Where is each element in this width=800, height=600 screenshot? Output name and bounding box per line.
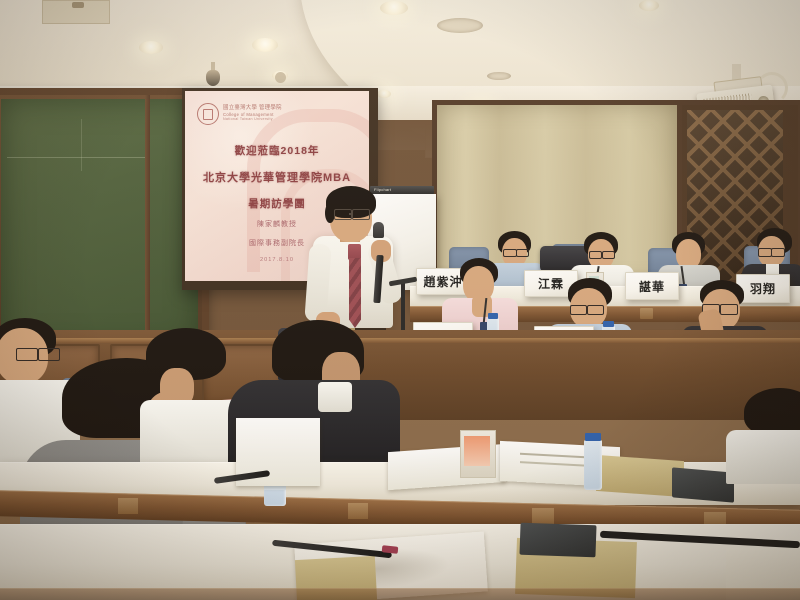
glasses-icon: [587, 305, 604, 315]
downlight: [139, 41, 163, 54]
green-chalkboard: [1, 99, 198, 349]
desk-hardware: [348, 503, 368, 519]
glasses-icon: [334, 209, 352, 220]
glasses-icon: [352, 209, 370, 220]
bottle-cap: [488, 313, 498, 319]
downlight: [377, 90, 391, 98]
glasses-icon: [503, 249, 517, 257]
glasses-icon: [589, 251, 602, 259]
downlight: [639, 0, 659, 11]
downlight: [380, 1, 408, 15]
desk-hardware: [118, 498, 138, 514]
torso: [726, 430, 800, 484]
glasses-icon: [570, 305, 587, 315]
hair: [744, 388, 800, 436]
tablet-device: [519, 523, 596, 558]
wainscot-rail: [0, 338, 800, 343]
glasses-icon: [516, 249, 529, 257]
water-bottle: [584, 440, 602, 490]
glasses-icon: [720, 304, 738, 315]
necktie: [349, 258, 361, 328]
glasses-bridge: [349, 213, 353, 215]
bottle-cap: [603, 321, 614, 327]
ceiling-vent: [437, 18, 483, 33]
slide-title-line2: 北京大學光華管理學院MBA: [185, 169, 369, 185]
smoke-detector-icon: [275, 72, 286, 83]
handheld-microphone-head: [373, 222, 384, 238]
desk-hardware: [640, 308, 653, 319]
chalkboard-divider: [145, 95, 150, 353]
slide-title-line1: 歡迎蒞臨2018年: [185, 143, 369, 158]
photo-scene: 國立臺灣大學 管理學院 College of Management Nation…: [0, 0, 800, 600]
desk-edge: [0, 588, 800, 600]
tissue-box-label: [464, 436, 490, 466]
bottle-cap: [585, 433, 601, 441]
slide-logo-cn: 國立臺灣大學 管理學院: [223, 106, 282, 112]
dress-shirt-collar: [318, 382, 352, 412]
glasses-icon: [758, 248, 772, 257]
slide-university-logo: 國立臺灣大學 管理學院 College of Management Nation…: [197, 103, 282, 125]
tie-knot: [348, 244, 361, 260]
glasses-icon: [16, 348, 38, 361]
chalk-smudge: [81, 119, 82, 171]
name-placard: 羽翔: [736, 274, 790, 303]
glasses-icon: [38, 348, 60, 361]
tablet-device: [672, 467, 734, 502]
university-seal-icon: [197, 103, 219, 125]
slide-logo-text: 國立臺灣大學 管理學院 College of Management Nation…: [223, 106, 282, 122]
name-placard: 諶華: [625, 272, 679, 300]
manila-folder: [596, 455, 684, 497]
chalk-smudge: [7, 157, 147, 158]
ceiling-vent: [487, 72, 511, 80]
flipchart-label: Flipchart: [374, 187, 391, 192]
security-camera-icon: [206, 70, 220, 86]
ceiling-fixture: [72, 2, 84, 8]
glasses-icon: [771, 248, 785, 257]
slide-logo-en2: National Taiwan University: [223, 118, 282, 122]
glasses-icon: [602, 251, 615, 259]
downlight: [252, 38, 278, 52]
